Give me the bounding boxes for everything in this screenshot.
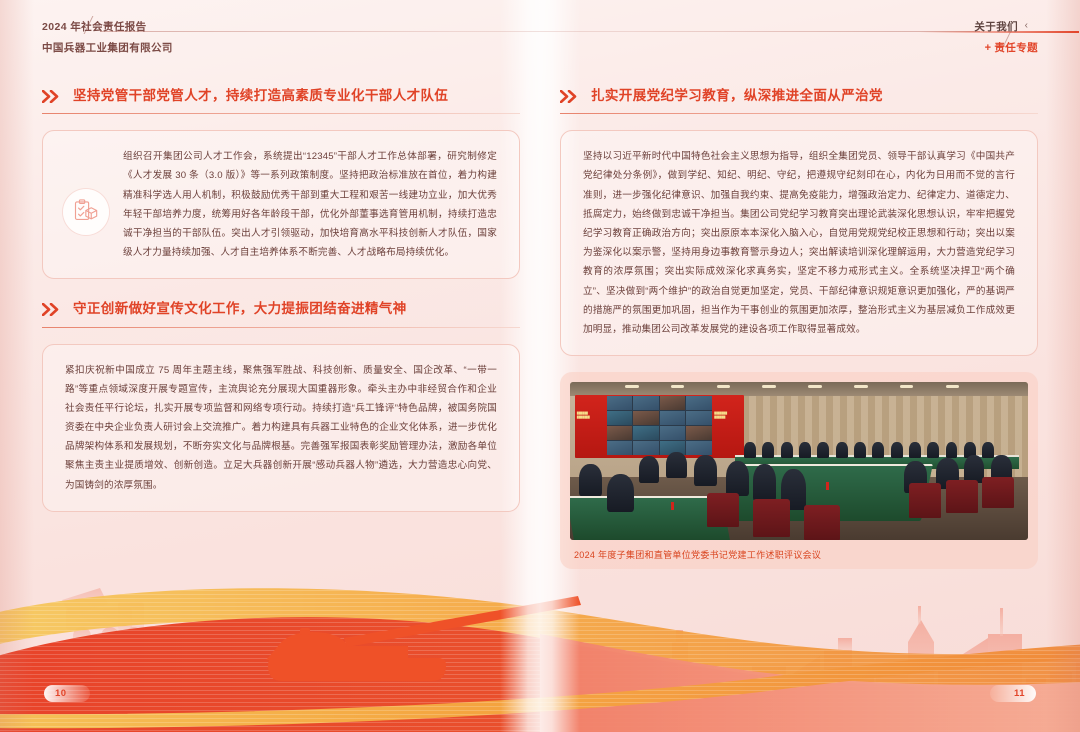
plus-icon: +: [985, 42, 992, 54]
conference-photo-card: █████████████ █████████████: [560, 372, 1038, 569]
left-page-column: 坚持党管干部党管人才，持续打造高素质专业化干部人才队伍 组织召开集团公司人才工作…: [42, 88, 520, 562]
right-section-1-title: 扎实开展党纪学习教育，纵深推进全面从严治党: [591, 88, 883, 104]
conference-photo: █████████████ █████████████: [570, 382, 1028, 540]
left-section-1-rule: [42, 113, 520, 114]
nav-responsibility-topic[interactable]: +责任专题: [985, 40, 1038, 55]
double-chevron-right-icon: [560, 90, 582, 103]
tank-silhouette-icon: [0, 546, 1080, 732]
right-section-1-rule: [560, 113, 1038, 114]
page-number-right: 11: [990, 685, 1036, 702]
nav-responsibility-topic-label: 责任专题: [994, 42, 1038, 54]
page-header: 2024 年社会责任报告 中国兵器工业集团有限公司 关于我们 ‹ +责任专题: [0, 0, 1080, 62]
right-section-1-body: 坚持以习近平新时代中国特色社会主义思想为指导，组织全集团党员、领导干部认真学习《…: [583, 147, 1015, 339]
right-section-1-heading: 扎实开展党纪学习教育，纵深推进全面从严治党: [560, 88, 1038, 114]
clipboard-cube-icon: [63, 189, 109, 235]
header-divider-line: [100, 31, 980, 32]
left-section-1-heading: 坚持党管干部党管人才，持续打造高素质专业化干部人才队伍: [42, 88, 520, 114]
page-number-left: 10: [44, 685, 90, 702]
chevron-left-icon: ‹: [1025, 20, 1028, 31]
company-name: 中国兵器工业集团有限公司: [42, 40, 173, 55]
left-section-1-title: 坚持党管干部党管人才，持续打造高素质专业化干部人才队伍: [73, 88, 448, 104]
double-chevron-right-icon: [42, 90, 64, 103]
left-section-2-body: 紧扣庆祝新中国成立 75 周年主题主线，聚焦强军胜战、科技创新、质量安全、国企改…: [65, 361, 497, 495]
left-section-1-body: 组织召开集团公司人才工作会，系统提出“12345”干部人才工作总体部署，研究制修…: [123, 147, 497, 262]
left-section-2-title: 守正创新做好宣传文化工作，大力提振团结奋进精气神: [73, 301, 407, 317]
report-spread-page: 2024 年社会责任报告 中国兵器工业集团有限公司 关于我们 ‹ +责任专题 坚…: [0, 0, 1080, 732]
left-section-1-card: 组织召开集团公司人才工作会，系统提出“12345”干部人才工作总体部署，研究制修…: [42, 130, 520, 279]
bottom-illustration: [0, 546, 1080, 732]
nav-about-us[interactable]: 关于我们: [974, 19, 1018, 34]
left-column-spacer: [42, 279, 520, 301]
spread-content: 坚持党管干部党管人才，持续打造高素质专业化干部人才队伍 组织召开集团公司人才工作…: [42, 88, 1038, 562]
right-page-column: 扎实开展党纪学习教育，纵深推进全面从严治党 坚持以习近平新时代中国特色社会主义思…: [560, 88, 1038, 562]
right-section-1-card: 坚持以习近平新时代中国特色社会主义思想为指导，组织全集团党员、领导干部认真学习《…: [560, 130, 1038, 356]
double-chevron-right-icon: [42, 303, 64, 316]
left-section-2-heading: 守正创新做好宣传文化工作，大力提振团结奋进精气神: [42, 301, 520, 327]
conference-photo-caption: 2024 年度子集团和直管单位党委书记党建工作述职评议会议: [570, 548, 1028, 561]
left-section-2-rule: [42, 327, 520, 328]
left-section-2-card: 紧扣庆祝新中国成立 75 周年主题主线，聚焦强军胜战、科技创新、质量安全、国企改…: [42, 344, 520, 512]
report-title: 2024 年社会责任报告: [42, 19, 147, 34]
